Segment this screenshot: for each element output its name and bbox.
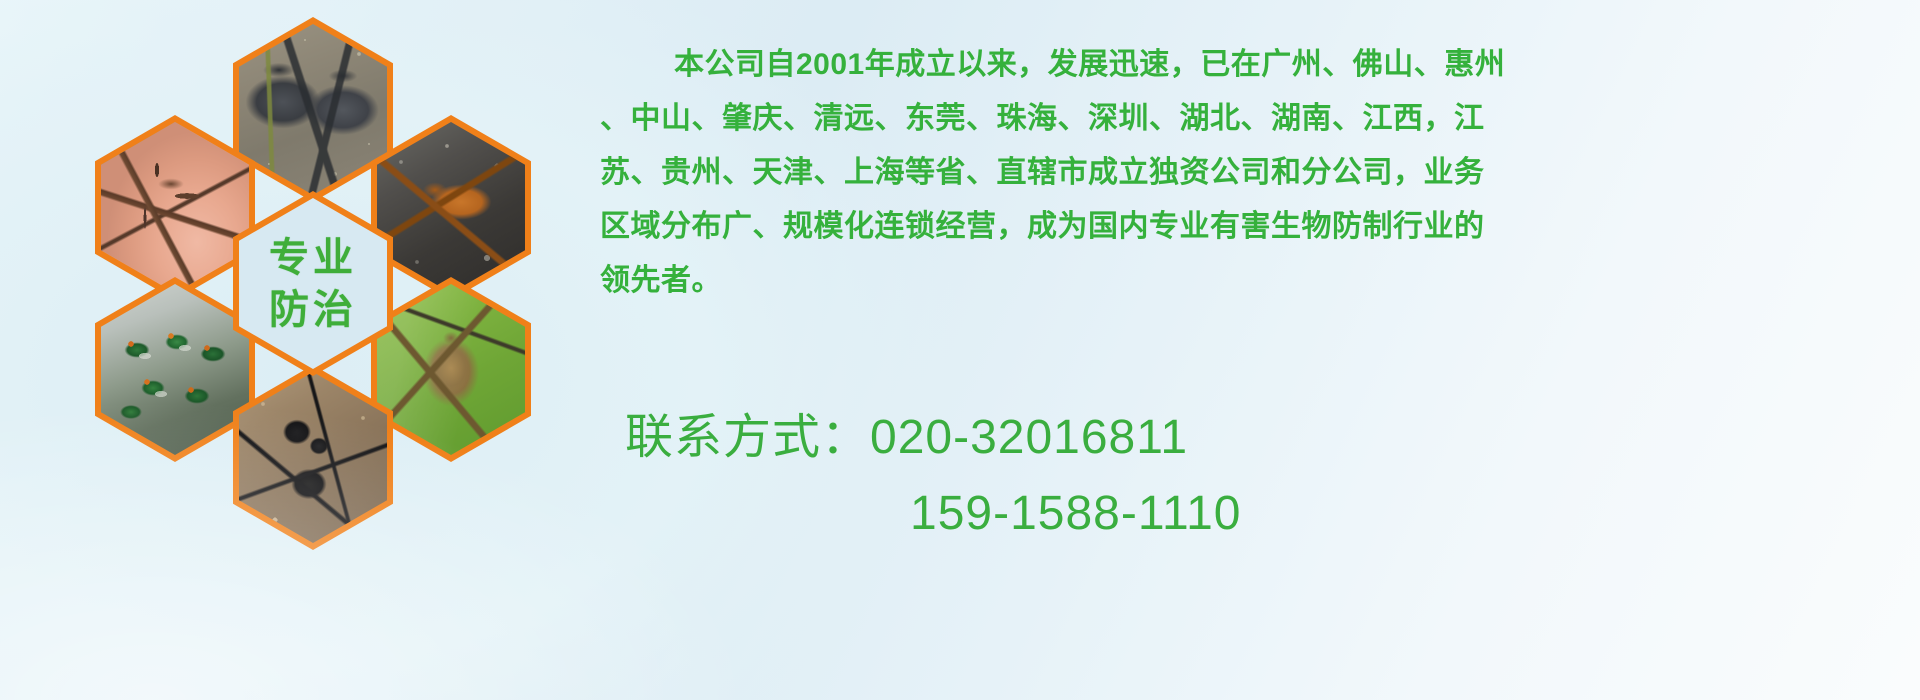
hex-cell-mosquito [95,115,255,300]
paragraph-line-1: 本公司自2001年成立以来，发展迅速，已在广州、佛山、惠州 [600,38,1920,92]
hex-cell-slogan: 专业 防治 [233,191,393,376]
hex-cell-cockroach [371,115,531,300]
company-intro-paragraph: 本公司自2001年成立以来，发展迅速，已在广州、佛山、惠州 、中山、肇庆、清远、… [600,38,1920,308]
hex-photo-cluster: 专业 防治 [95,5,595,565]
ant-photo [239,372,387,543]
text-content: 本公司自2001年成立以来，发展迅速，已在广州、佛山、惠州 、中山、肇庆、清远、… [600,0,1920,700]
stinkbug-photo [377,284,525,455]
hex-cell-stinkbug [371,277,531,462]
slogan-line1: 专业 [269,236,357,280]
contact-block: 联系方式：020-32016811 159-1588-1110 [600,400,1920,552]
flies-photo [101,284,249,455]
paragraph-line-2: 、中山、肇庆、清远、东莞、珠海、深圳、湖北、湖南、江西，江 [600,92,1920,146]
cockroach-photo [377,122,525,293]
slogan-text: 专业 防治 [269,237,357,331]
paragraph-line-4: 区域分布广、规模化连锁经营，成为国内专业有害生物防制行业的 [600,200,1920,254]
hex-cell-flies [95,277,255,462]
contact-line-secondary[interactable]: 159-1588-1110 [600,476,1920,552]
mosquito-photo [101,122,249,293]
paragraph-line-3: 苏、贵州、天津、上海等省、直辖市成立独资公司和分公司，业务 [600,146,1920,200]
hex-cell-rats [233,17,393,202]
rats-photo [239,24,387,195]
contact-line-primary[interactable]: 联系方式：020-32016811 [600,400,1920,476]
paragraph-line-5: 领先者。 [600,254,1920,308]
promo-banner: 专业 防治 本公司自2001年成立以来，发展迅速，已在广州、佛山、惠州 、中山、… [0,0,1920,700]
slogan-line2: 防治 [269,289,357,331]
hex-cell-ant [233,365,393,550]
